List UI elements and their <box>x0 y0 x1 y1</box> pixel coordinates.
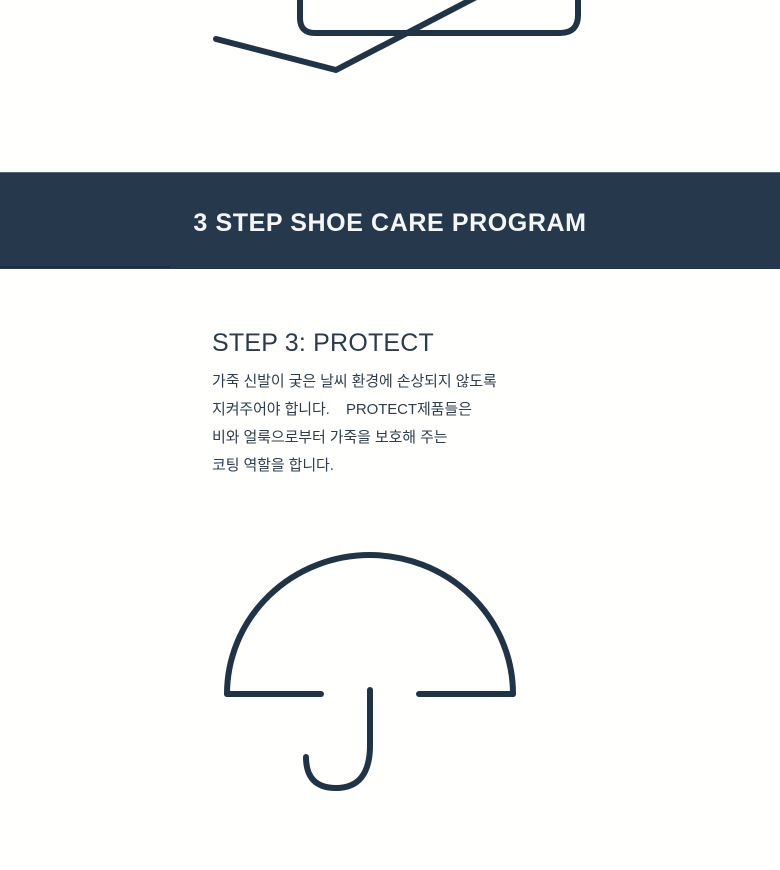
description-line: 비와 얼룩으로부터 가죽을 보호해 주는 <box>212 424 632 452</box>
page-root: 3 STEP SHOE CARE PROGRAM STEP 3: PROTECT… <box>0 0 780 870</box>
banner-seam <box>0 266 170 268</box>
description-line: 지켜주어야 합니다. PROTECT제품들은 <box>212 396 632 424</box>
program-banner: 3 STEP SHOE CARE PROGRAM <box>0 172 780 269</box>
shoe-care-cloth-icon <box>0 0 780 165</box>
step-heading: STEP 3: PROTECT <box>212 330 632 358</box>
step-description: 가죽 신발이 궂은 날씨 환경에 손상되지 않도록 지켜주어야 합니다. PRO… <box>212 368 632 480</box>
step-content: STEP 3: PROTECT 가죽 신발이 궂은 날씨 환경에 손상되지 않도… <box>212 330 632 480</box>
umbrella-icon <box>205 535 535 825</box>
description-line: 가죽 신발이 궂은 날씨 환경에 손상되지 않도록 <box>212 368 632 396</box>
umbrella-illustration <box>205 535 535 825</box>
top-illustration <box>0 0 780 165</box>
description-line: 코팅 역할을 합니다. <box>212 452 632 480</box>
banner-title: 3 STEP SHOE CARE PROGRAM <box>193 209 586 238</box>
